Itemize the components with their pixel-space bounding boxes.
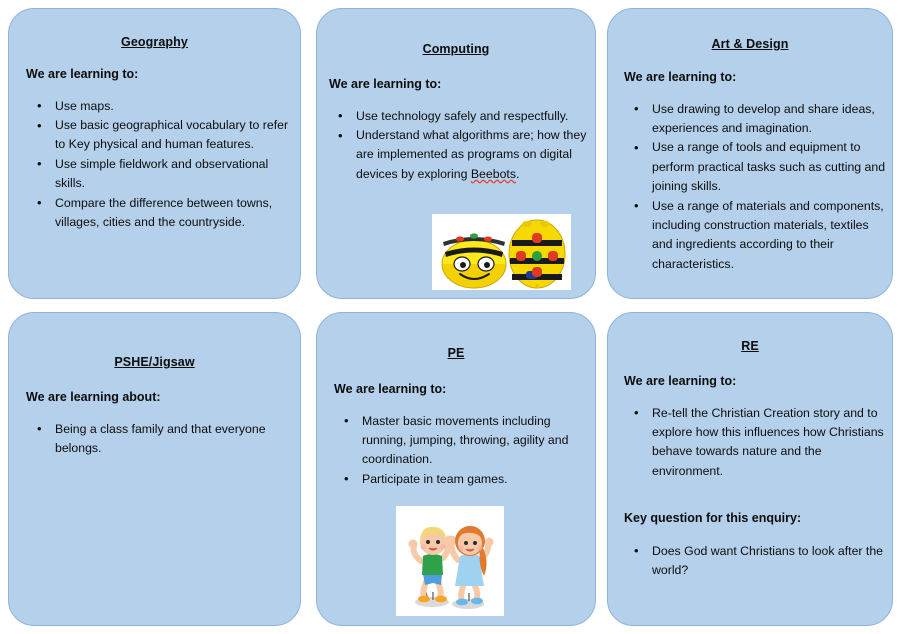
objective-list-pshe-jigsaw: Being a class family and that everyone b… bbox=[29, 420, 300, 459]
list-item: Being a class family and that everyone b… bbox=[29, 420, 300, 459]
list-item: Re-tell the Christian Creation story and… bbox=[626, 404, 892, 482]
subject-card-pshe-jigsaw: PSHE/Jigsaw We are learning about: Being… bbox=[8, 312, 301, 626]
list-item: Use drawing to develop and share ideas, … bbox=[626, 100, 892, 139]
subject-card-art-design: Art & Design We are learning to: Use dra… bbox=[607, 8, 893, 299]
subject-card-computing: Computing We are learning to: Use techno… bbox=[316, 8, 596, 299]
subject-card-pe: PE We are learning to: Master basic move… bbox=[316, 312, 596, 626]
card-subheading-re-key-question: Key question for this enquiry: bbox=[624, 511, 892, 527]
list-item: Understand what algorithms are; how they… bbox=[330, 126, 595, 184]
list-item: Does God want Christians to look after t… bbox=[626, 542, 892, 581]
card-subheading-geography: We are learning to: bbox=[26, 67, 300, 83]
list-item: Use maps. bbox=[29, 97, 300, 116]
children-jumping-photo bbox=[396, 506, 504, 616]
list-item: Use technology safely and respectfully. bbox=[330, 107, 595, 126]
card-subheading-computing: We are learning to: bbox=[329, 77, 595, 93]
list-item: Use simple fieldwork and observational s… bbox=[29, 155, 300, 194]
subject-card-re: RE We are learning to: Re-tell the Chris… bbox=[607, 312, 893, 626]
list-item: Use basic geographical vocabulary to ref… bbox=[29, 116, 300, 155]
list-item: Master basic movements including running… bbox=[336, 412, 595, 470]
objective-list-computing: Use technology safely and respectfully. … bbox=[330, 107, 595, 185]
key-question-list-re: Does God want Christians to look after t… bbox=[626, 542, 892, 581]
objective-list-art-design: Use drawing to develop and share ideas, … bbox=[626, 100, 892, 275]
objective-list-geography: Use maps. Use basic geographical vocabul… bbox=[29, 97, 300, 233]
card-title-pshe-jigsaw: PSHE/Jigsaw bbox=[9, 355, 300, 370]
list-item: Use a range of tools and equipment to pe… bbox=[626, 138, 892, 196]
objective-list-re: Re-tell the Christian Creation story and… bbox=[626, 404, 892, 482]
curriculum-overview-page: Geography We are learning to: Use maps. … bbox=[0, 0, 900, 634]
list-item: Participate in team games. bbox=[336, 470, 595, 489]
objective-list-pe: Master basic movements including running… bbox=[336, 412, 595, 490]
list-item: Compare the difference between towns, vi… bbox=[29, 194, 300, 233]
card-title-geography: Geography bbox=[9, 35, 300, 50]
card-subheading-pshe-jigsaw: We are learning about: bbox=[26, 390, 300, 406]
card-subheading-pe: We are learning to: bbox=[334, 382, 595, 398]
card-subheading-art-design: We are learning to: bbox=[624, 70, 892, 86]
misspelled-word: Beebots bbox=[471, 167, 516, 181]
card-title-computing: Computing bbox=[317, 42, 595, 57]
card-title-art-design: Art & Design bbox=[608, 37, 892, 52]
card-title-re: RE bbox=[608, 339, 892, 354]
list-item: Use a range of materials and components,… bbox=[626, 197, 892, 275]
card-title-pe: PE bbox=[317, 346, 595, 361]
beebot-photo bbox=[432, 214, 571, 290]
subject-card-geography: Geography We are learning to: Use maps. … bbox=[8, 8, 301, 299]
card-subheading-re: We are learning to: bbox=[624, 374, 892, 390]
